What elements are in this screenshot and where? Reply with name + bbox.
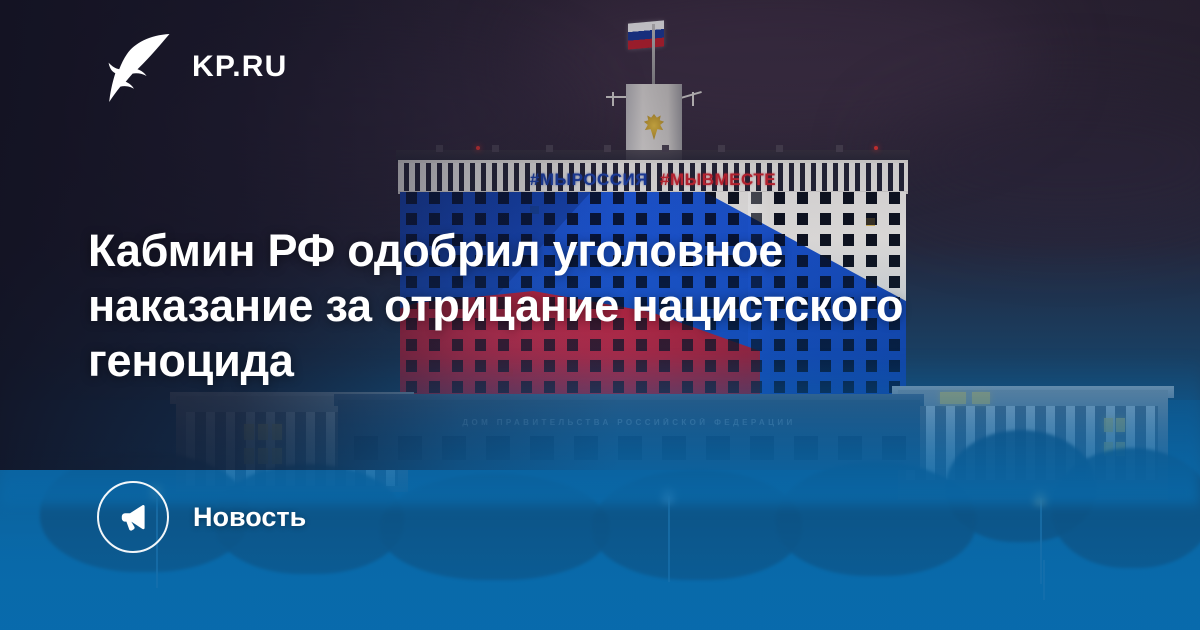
swallow-bird-icon [108,32,170,102]
status-badge[interactable]: Новость [97,481,306,553]
megaphone-icon [115,499,151,535]
status-badge-label: Новость [193,502,306,533]
brand-name: KP.RU [192,50,287,84]
news-share-card: #МЫРОССИЯ #МЫВМЕСТЕ [0,0,1200,630]
page-title: Кабмин РФ одобрил уголовное наказание за… [88,223,1018,388]
overlay-ui: KP.RU Кабмин РФ одобрил уголовное наказа… [0,0,1200,630]
brand-logo[interactable]: KP.RU [108,32,287,102]
badge-icon-circle [97,481,169,553]
